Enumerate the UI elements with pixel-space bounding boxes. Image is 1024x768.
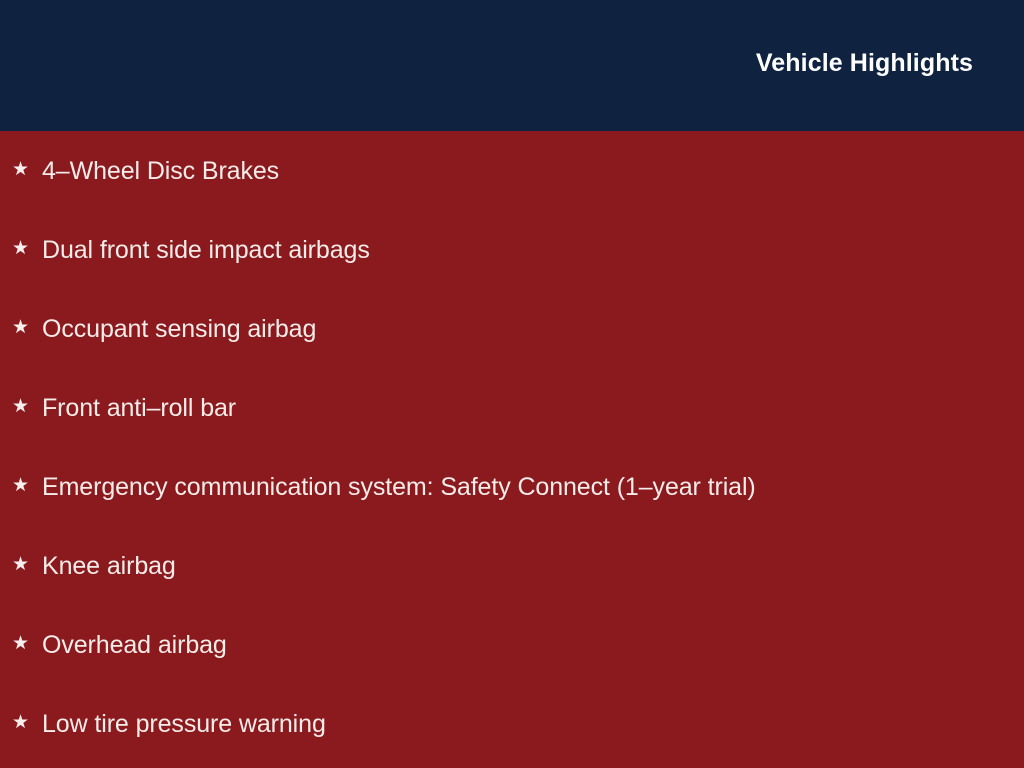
list-item: ★ Knee airbag xyxy=(0,526,1024,605)
star-icon: ★ xyxy=(12,555,34,574)
slide-vehicle-highlights: Vehicle Highlights ★ 4–Wheel Disc Brakes… xyxy=(0,0,1024,768)
list-item: ★ 4–Wheel Disc Brakes xyxy=(0,131,1024,210)
list-item: ★ Emergency communication system: Safety… xyxy=(0,447,1024,526)
star-icon: ★ xyxy=(12,713,34,732)
highlights-list: ★ 4–Wheel Disc Brakes ★ Dual front side … xyxy=(0,131,1024,763)
list-item: ★ Low tire pressure warning xyxy=(0,684,1024,763)
list-item: ★ Dual front side impact airbags xyxy=(0,210,1024,289)
list-item-label: Overhead airbag xyxy=(42,630,227,660)
list-item: ★ Front anti–roll bar xyxy=(0,368,1024,447)
star-icon: ★ xyxy=(12,318,34,337)
star-icon: ★ xyxy=(12,634,34,653)
star-icon: ★ xyxy=(12,476,34,495)
list-item-label: 4–Wheel Disc Brakes xyxy=(42,156,279,186)
list-item-label: Knee airbag xyxy=(42,551,176,581)
highlights-content-area: ★ 4–Wheel Disc Brakes ★ Dual front side … xyxy=(0,131,1024,768)
star-icon: ★ xyxy=(12,397,34,416)
list-item: ★ Occupant sensing airbag xyxy=(0,289,1024,368)
header-bar: Vehicle Highlights xyxy=(0,0,1024,131)
list-item-label: Emergency communication system: Safety C… xyxy=(42,472,756,502)
list-item-label: Low tire pressure warning xyxy=(42,709,326,739)
star-icon: ★ xyxy=(12,239,34,258)
page-title: Vehicle Highlights xyxy=(756,48,973,78)
list-item-label: Dual front side impact airbags xyxy=(42,235,370,265)
list-item: ★ Overhead airbag xyxy=(0,605,1024,684)
list-item-label: Occupant sensing airbag xyxy=(42,314,316,344)
star-icon: ★ xyxy=(12,160,34,179)
list-item-label: Front anti–roll bar xyxy=(42,393,236,423)
